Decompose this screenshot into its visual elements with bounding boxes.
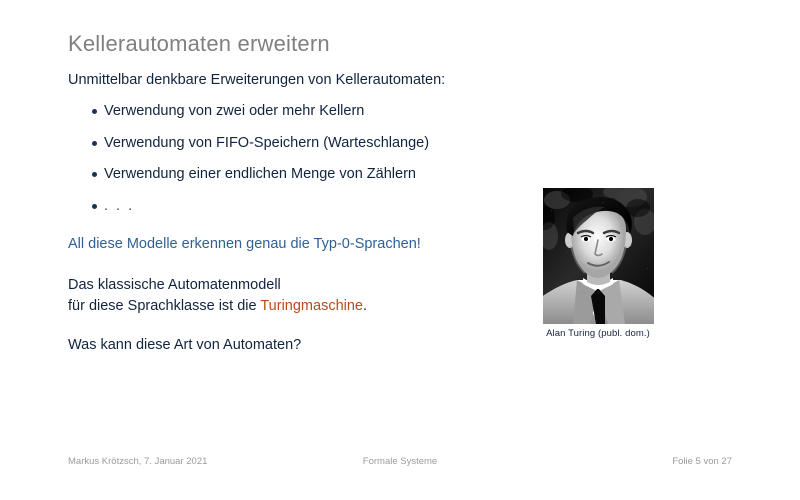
list-item: Verwendung einer endlichen Menge von Zäh… — [68, 166, 488, 183]
bullet-dot-icon — [92, 141, 97, 146]
turing-figure: Alan Turing (publ. dom.) — [537, 188, 659, 339]
page-title: Kellerautomaten erweitern — [68, 31, 330, 57]
bullet-dot-icon — [92, 172, 97, 177]
slide-footer: Markus Krötzsch, 7. Januar 2021 Formale … — [0, 456, 800, 472]
list-item: Verwendung von FIFO-Speichern (Warteschl… — [68, 135, 488, 152]
explanation-line-1: Das klassische Automatenmodell — [68, 275, 488, 296]
question-statement: Was kann diese Art von Automaten? — [68, 337, 488, 354]
explanation-line-2: für diese Sprachklasse ist die Turingmas… — [68, 296, 488, 317]
bullet-dot-icon — [92, 204, 97, 209]
list-item: Verwendung von zwei oder mehr Kellern — [68, 103, 488, 120]
portrait-image — [543, 188, 654, 324]
alan-turing-photo — [543, 188, 654, 324]
list-item-label: . . . — [104, 198, 134, 214]
highlight-statement: All diese Modelle erkennen genau die Typ… — [68, 236, 488, 253]
list-item: . . . — [68, 198, 488, 215]
slide-body: Unmittelbar denkbare Erweiterungen von K… — [68, 72, 488, 354]
explanation-line-2-suffix: . — [363, 298, 367, 314]
figure-caption: Alan Turing (publ. dom.) — [537, 328, 659, 339]
explanation-line-2-prefix: für diese Sprachklasse ist die — [68, 298, 260, 314]
slide-canvas: Kellerautomaten erweitern Unmittelbar de… — [0, 0, 800, 500]
list-item-label: Verwendung einer endlichen Menge von Zäh… — [104, 166, 416, 182]
turingmaschine-emphasis: Turingmaschine — [260, 298, 363, 314]
bullet-dot-icon — [92, 109, 97, 114]
footer-slide-number: Folie 5 von 27 — [672, 456, 732, 467]
bullet-list: Verwendung von zwei oder mehr Kellern Ve… — [68, 103, 488, 215]
lead-paragraph: Unmittelbar denkbare Erweiterungen von K… — [68, 72, 488, 89]
list-item-label: Verwendung von zwei oder mehr Kellern — [104, 103, 364, 119]
explanation-paragraph: Das klassische Automatenmodell für diese… — [68, 275, 488, 316]
list-item-label: Verwendung von FIFO-Speichern (Warteschl… — [104, 135, 429, 151]
